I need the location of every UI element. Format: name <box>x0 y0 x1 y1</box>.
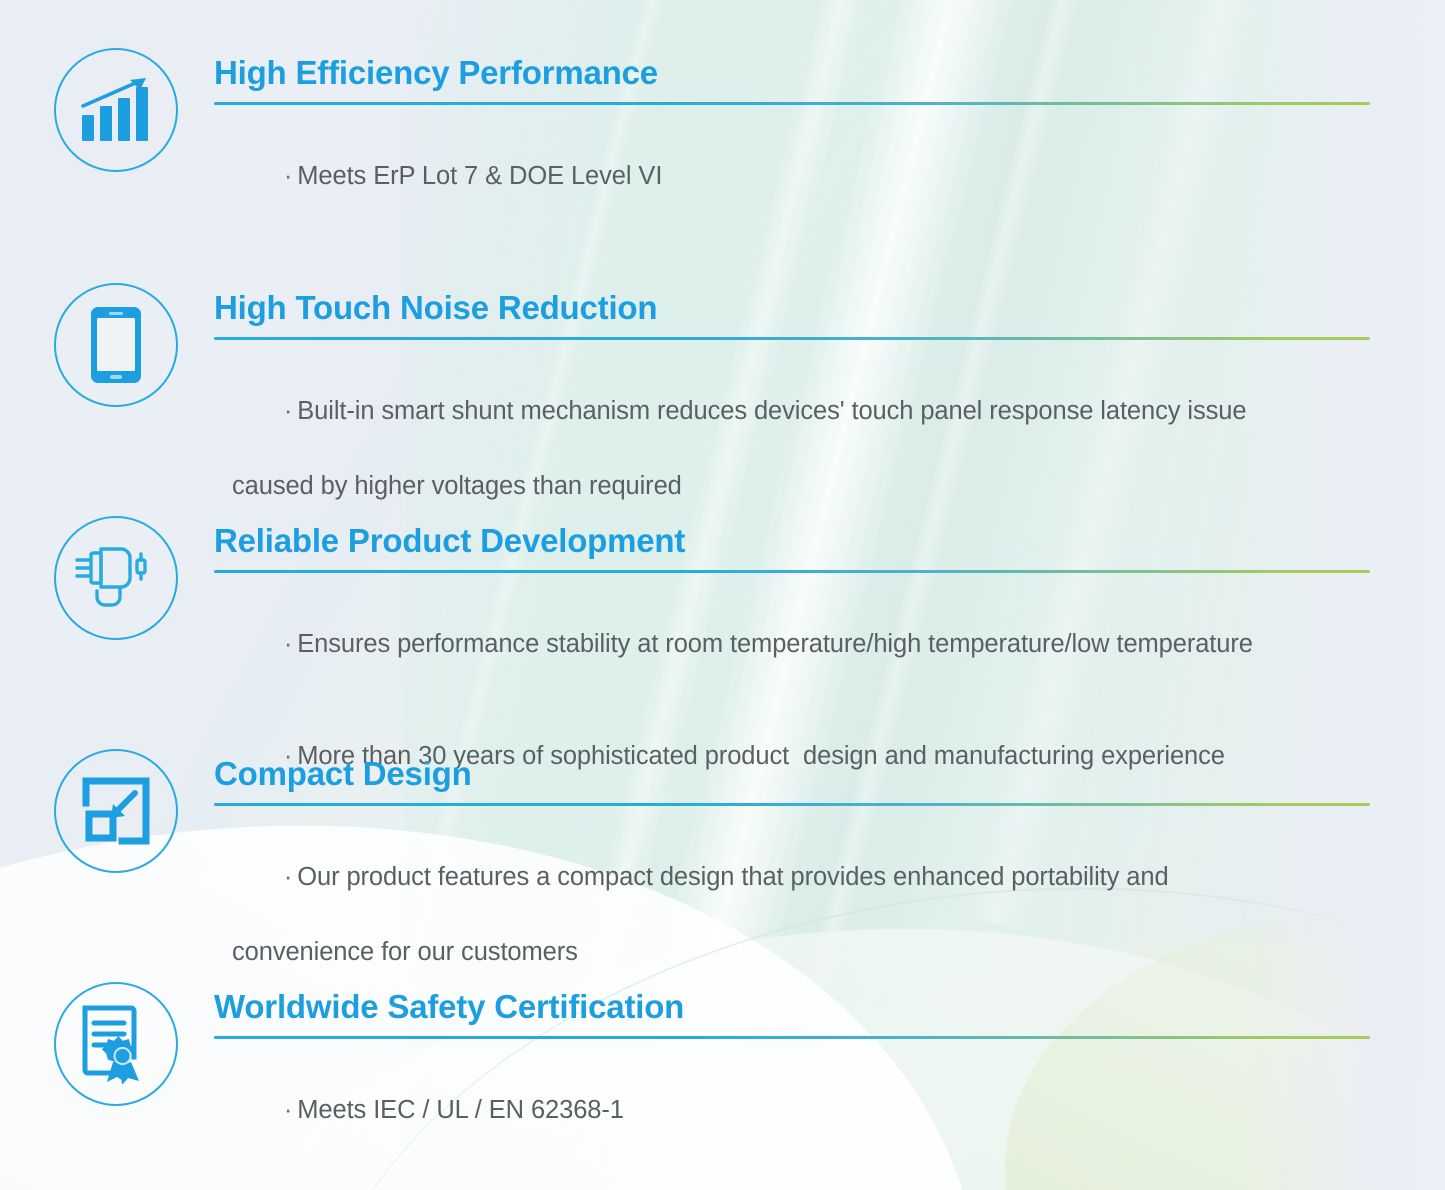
feature-text-block: Worldwide Safety Certification ·Meets IE… <box>214 982 1426 1167</box>
power-adapter-icon <box>54 516 178 640</box>
bullet-text: Meets ErP Lot 7 & DOE Level VI <box>297 162 662 190</box>
feature-item-high-efficiency-performance: High Efficiency Performance ·Meets ErP L… <box>54 48 1426 233</box>
feature-divider <box>214 102 1370 105</box>
bullet-text: Our product features a compact design th… <box>297 863 1168 891</box>
feature-title: Reliable Product Development <box>214 524 1426 559</box>
bullet-item: ·Meets IEC / UL / EN 62368-1 <box>214 1055 1426 1167</box>
bullet-item: ·Ensures performance stability at room t… <box>214 589 1426 701</box>
bullet-text: Meets IEC / UL / EN 62368-1 <box>297 1096 624 1124</box>
feature-divider <box>214 803 1370 806</box>
certificate-award-icon <box>54 982 178 1106</box>
feature-divider <box>214 337 1370 340</box>
feature-title: High Efficiency Performance <box>214 56 1426 91</box>
feature-divider <box>214 570 1370 573</box>
bullet-marker: · <box>284 162 292 190</box>
feature-text-block: High Efficiency Performance ·Meets ErP L… <box>214 48 1426 233</box>
bar-chart-growth-icon <box>54 48 178 172</box>
smartphone-icon <box>54 283 178 407</box>
feature-item-worldwide-safety-certification: Worldwide Safety Certification ·Meets IE… <box>54 982 1426 1167</box>
bullet-marker: · <box>284 630 292 658</box>
feature-list: High Efficiency Performance ·Meets ErP L… <box>0 0 1445 1190</box>
bullet-text: Built-in smart shunt mechanism reduces d… <box>297 397 1246 425</box>
bullet-marker: · <box>284 1096 292 1124</box>
feature-bullet-list: ·Meets ErP Lot 7 & DOE Level VI <box>214 121 1426 233</box>
compact-resize-icon <box>54 749 178 873</box>
bullet-item: ·Meets ErP Lot 7 & DOE Level VI <box>214 121 1426 233</box>
bullet-text-continued: caused by higher voltages than required <box>214 468 1426 505</box>
feature-divider <box>214 1036 1370 1039</box>
bullet-marker: · <box>284 397 292 425</box>
feature-title: High Touch Noise Reduction <box>214 291 1426 326</box>
bullet-text: Ensures performance stability at room te… <box>297 630 1253 658</box>
feature-title: Worldwide Safety Certification <box>214 990 1426 1025</box>
bullet-marker: · <box>284 863 292 891</box>
feature-title: Compact Design <box>214 757 1426 792</box>
bullet-text-continued: convenience for our customers <box>214 934 1426 971</box>
feature-bullet-list: ·Meets IEC / UL / EN 62368-1 <box>214 1055 1426 1167</box>
